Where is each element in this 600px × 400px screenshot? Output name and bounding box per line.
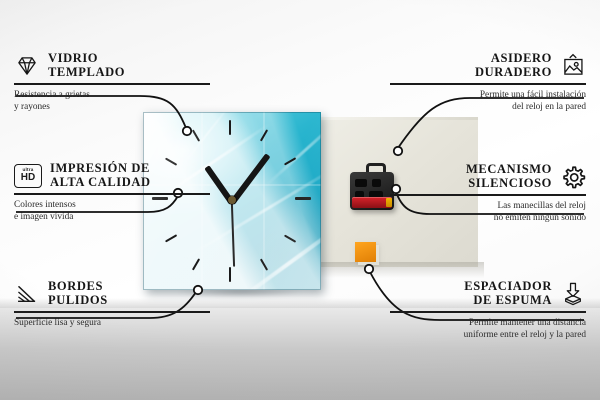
background-vignette xyxy=(0,0,600,400)
infographic-stage: VIDRIO TEMPLADO Resistencia a grietas y … xyxy=(0,0,600,400)
